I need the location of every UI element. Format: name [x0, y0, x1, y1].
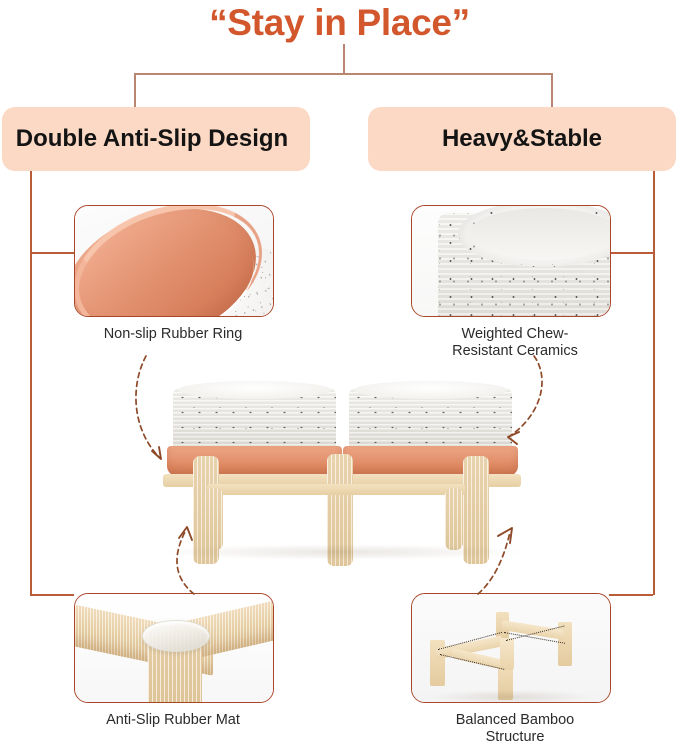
- hero-bowl-left: [173, 388, 336, 450]
- arrow-to-rubber-ring: [126, 352, 190, 472]
- feature-image-non-slip-rubber-ring: [74, 205, 274, 317]
- page-title: “Stay in Place”: [0, 2, 679, 44]
- connector-drop-left: [134, 73, 136, 109]
- header-label-right: Heavy&Stable: [442, 125, 602, 153]
- feature-image-anti-slip-rubber-mat: [74, 593, 274, 703]
- arrow-to-ceramic-bowl: [486, 352, 556, 462]
- header-label-left: Double Anti-Slip Design: [16, 125, 296, 153]
- bracket-left-vertical: [30, 171, 32, 595]
- connector-horizontal-bar: [134, 73, 553, 75]
- caption-line-1: Balanced Bamboo: [456, 712, 575, 728]
- feature-caption-anti-slip-rubber-mat: Anti-Slip Rubber Mat: [60, 712, 286, 729]
- arrow-to-rubber-mat: [160, 520, 216, 598]
- feature-caption-balanced-bamboo-structure: Balanced Bamboo Structure: [420, 712, 610, 743]
- bracket-right-branch-top: [609, 252, 653, 254]
- connector-drop-right: [551, 73, 553, 109]
- connector-title-stem: [343, 44, 345, 75]
- infographic-page: “Stay in Place” Double Anti-Slip Design …: [0, 0, 679, 743]
- bracket-right-vertical: [653, 171, 655, 595]
- bracket-left-branch-bottom: [30, 594, 74, 596]
- arrow-to-bamboo-structure: [456, 520, 522, 598]
- stand-cross-rail: [207, 484, 465, 495]
- bracket-left-branch-top: [30, 252, 74, 254]
- header-box-double-anti-slip[interactable]: Double Anti-Slip Design: [2, 107, 310, 171]
- caption-line-2: Structure: [486, 729, 545, 743]
- feature-image-balanced-bamboo-structure: [411, 593, 611, 703]
- caption-line-1: Weighted Chew-: [462, 326, 569, 342]
- header-box-heavy-stable[interactable]: Heavy&Stable: [368, 107, 676, 171]
- feature-image-weighted-chew-resistant-ceramics: [411, 205, 611, 317]
- feature-caption-non-slip-rubber-ring: Non-slip Rubber Ring: [60, 326, 286, 343]
- bracket-right-branch-bottom: [609, 594, 653, 596]
